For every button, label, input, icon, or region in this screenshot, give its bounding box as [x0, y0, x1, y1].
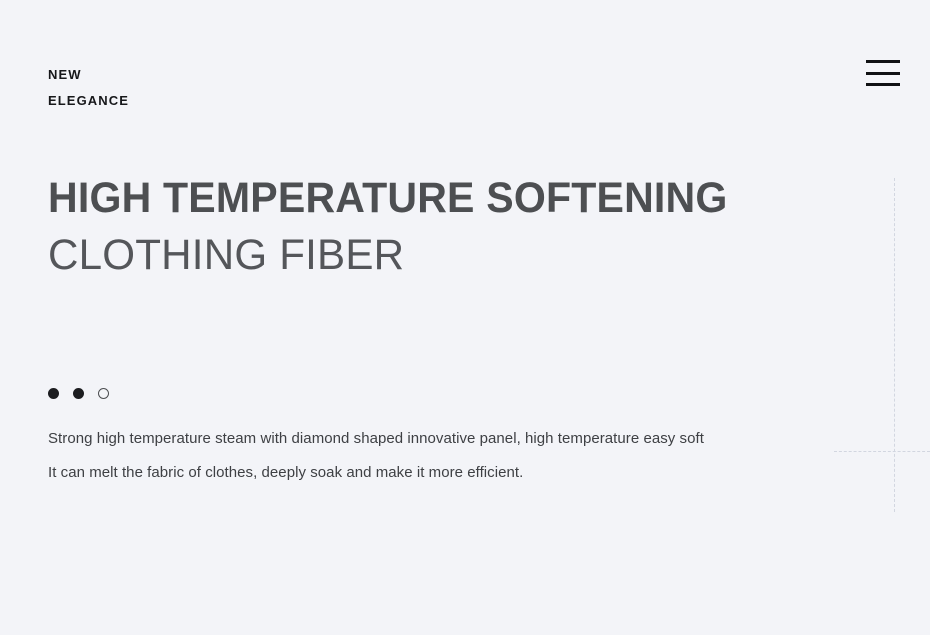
hamburger-menu-icon[interactable] — [866, 60, 900, 86]
carousel-dot-2[interactable] — [73, 388, 84, 399]
site-header: NEW ELEGANCE — [0, 0, 930, 140]
decorative-vertical-dashed-line — [894, 178, 895, 512]
carousel-pagination-dots[interactable] — [48, 388, 109, 399]
hamburger-bar-3 — [866, 83, 900, 86]
hamburger-bar-1 — [866, 60, 900, 63]
decorative-horizontal-dashed-line — [834, 451, 930, 452]
brand-logo-line-1: NEW — [48, 62, 129, 88]
page-root: NEW ELEGANCE HIGH TEMPERATURE SOFTENING … — [0, 0, 930, 635]
carousel-dot-3[interactable] — [98, 388, 109, 399]
hamburger-bar-2 — [866, 72, 900, 75]
page-title: HIGH TEMPERATURE SOFTENING CLOTHING FIBE… — [48, 170, 868, 284]
carousel-dot-1[interactable] — [48, 388, 59, 399]
hero-description-line-1: Strong high temperature steam with diamo… — [48, 422, 838, 456]
page-title-line-2: CLOTHING FIBER — [48, 227, 852, 284]
page-title-line-1: HIGH TEMPERATURE SOFTENING — [48, 170, 831, 227]
hero-description-line-2: It can melt the fabric of clothes, deepl… — [48, 456, 838, 490]
brand-logo-line-2: ELEGANCE — [48, 88, 129, 114]
hero-section: HIGH TEMPERATURE SOFTENING CLOTHING FIBE… — [48, 170, 868, 284]
hero-description: Strong high temperature steam with diamo… — [48, 422, 838, 490]
brand-logo[interactable]: NEW ELEGANCE — [48, 62, 129, 114]
